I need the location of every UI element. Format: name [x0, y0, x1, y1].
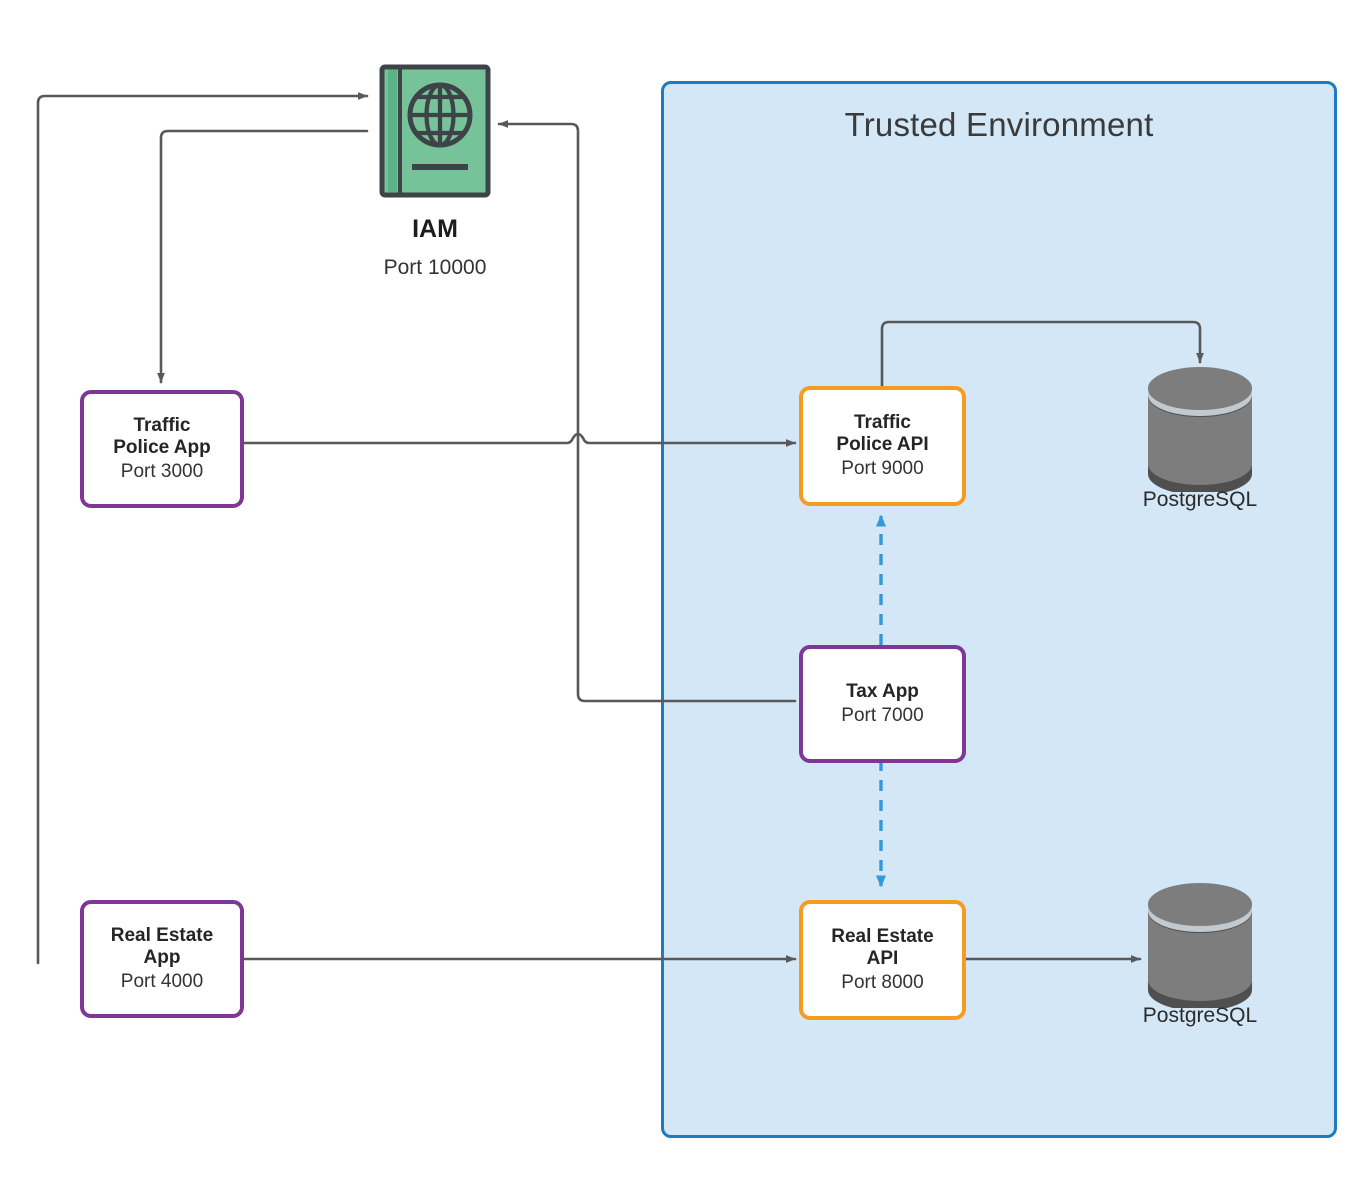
node-real-estate-api[interactable]: Real Estate API Port 8000	[799, 900, 966, 1020]
node-title: Traffic Police API	[830, 412, 934, 456]
node-title: Real Estate API	[825, 926, 939, 970]
node-title: Traffic Police App	[107, 415, 216, 459]
postgres-realestate-database-cylinder-icon	[1145, 882, 1255, 1008]
node-port: Port 7000	[841, 705, 923, 727]
iam-passport-globe-icon	[378, 63, 492, 199]
node-port: Port 3000	[121, 461, 203, 483]
node-traffic-police-api[interactable]: Traffic Police API Port 9000	[799, 386, 966, 506]
iam-port: Port 10000	[330, 256, 540, 280]
node-title: Real Estate App	[105, 925, 219, 969]
node-tax-app[interactable]: Tax App Port 7000	[799, 645, 966, 763]
postgres-realestate-label: PostgreSQL	[1090, 1004, 1310, 1028]
node-port: Port 8000	[841, 972, 923, 994]
node-port: Port 9000	[841, 458, 923, 480]
diagram-canvas: Trusted Environment	[0, 0, 1361, 1180]
trusted-environment-title: Trusted Environment	[664, 106, 1334, 144]
node-traffic-police-app[interactable]: Traffic Police App Port 3000	[80, 390, 244, 508]
edge-real-estate-app-to-iam	[38, 96, 367, 963]
postgres-traffic-label: PostgreSQL	[1090, 488, 1310, 512]
node-port: Port 4000	[121, 971, 203, 993]
postgres-traffic-database-cylinder-icon	[1145, 366, 1255, 492]
node-real-estate-app[interactable]: Real Estate App Port 4000	[80, 900, 244, 1018]
iam-label: IAM	[330, 215, 540, 244]
node-title: Tax App	[840, 681, 925, 703]
